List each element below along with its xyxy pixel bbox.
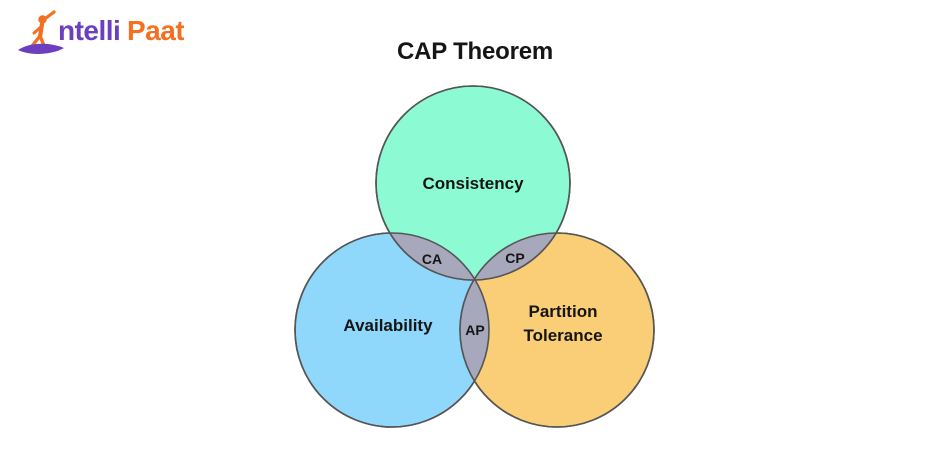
label-partition-tolerance-line2: Tolerance bbox=[523, 326, 602, 345]
label-overlap-ap: AP bbox=[465, 322, 484, 338]
label-partition-tolerance-line1: Partition bbox=[529, 302, 598, 321]
cap-theorem-venn-diagram: Consistency Availability Partition Toler… bbox=[0, 0, 950, 451]
label-availability: Availability bbox=[343, 316, 433, 335]
label-overlap-ca: CA bbox=[422, 251, 442, 267]
label-overlap-cp: CP bbox=[505, 250, 524, 266]
diagram-canvas: ntelli Paat CAP Theorem bbox=[0, 0, 950, 451]
label-consistency: Consistency bbox=[422, 174, 524, 193]
